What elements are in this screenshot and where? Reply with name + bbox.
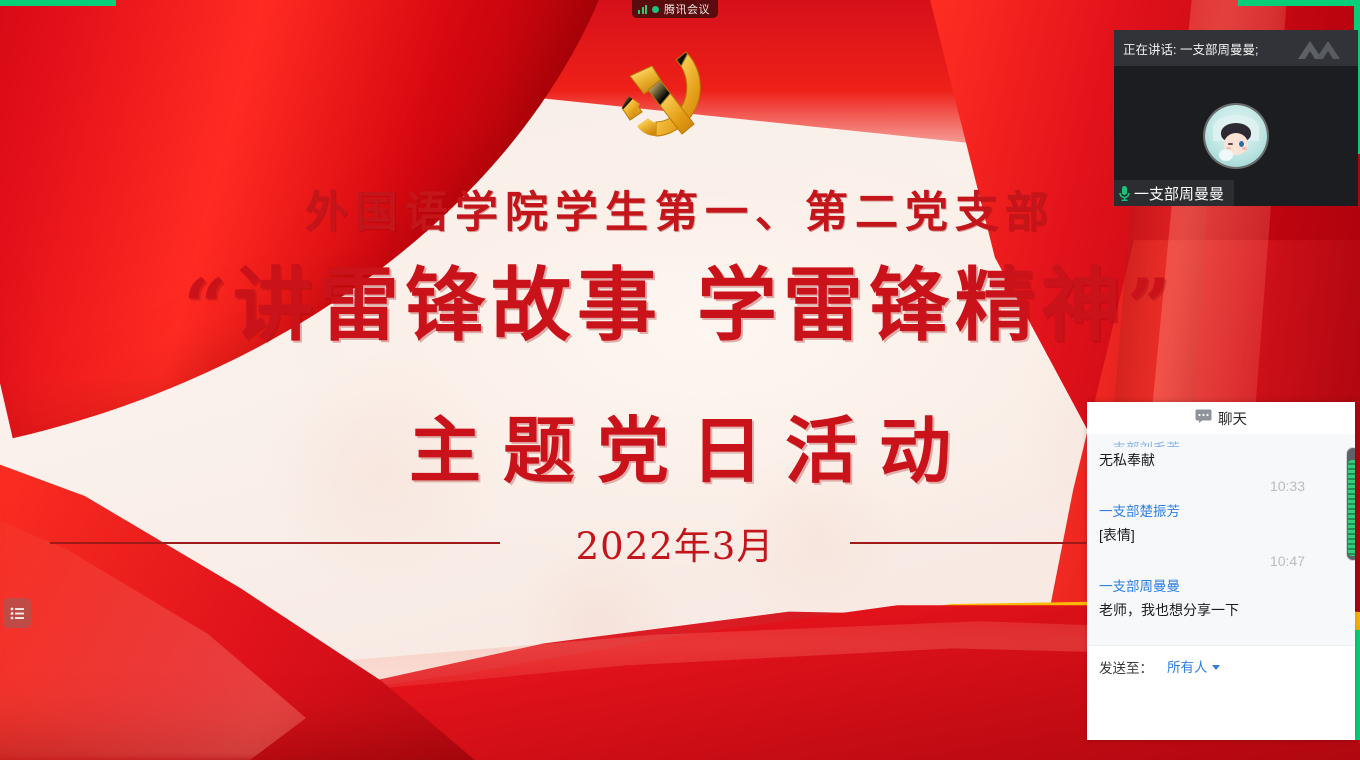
chat-message: 一支部楚振芳 [表情] 10:47 (1099, 501, 1343, 574)
chat-scrollbar[interactable] (1347, 448, 1355, 560)
send-to-row[interactable]: 发送至： 所有人 (1099, 656, 1355, 677)
chat-compose-area[interactable]: 发送至： 所有人 (1087, 645, 1355, 740)
chat-message-text: 无私奉献 (1099, 447, 1343, 473)
chat-bubble-icon (1195, 409, 1212, 428)
screen: 外国语学院学生第一、第二党支部 “讲雷锋故事 学雷锋精神” 主题党日活动 202… (0, 0, 1360, 760)
meeting-app-name: 腾讯会议 (664, 1, 710, 17)
meeting-status-badge[interactable]: 腾讯会议 (632, 0, 718, 18)
video-thumbnail-panel[interactable]: 正在讲话: 一支部周曼曼; (1114, 30, 1358, 206)
slogan-text: 讲雷锋故事 学雷锋精神 (233, 258, 1127, 352)
speaking-label: 正在讲话: 一支部周曼曼; (1123, 39, 1258, 58)
chat-message-list[interactable]: 一支部刘毛芳 无私奉献 10:33 一支部楚振芳 [表情] 10:47 一支部周… (1087, 434, 1355, 645)
cpc-party-emblem-icon (608, 46, 716, 150)
avatar (1205, 105, 1267, 167)
chat-message: 一支部刘毛芳 无私奉献 10:33 (1099, 438, 1343, 499)
chat-message-time: 10:33 (1099, 473, 1343, 499)
close-quote: ” (1127, 262, 1177, 351)
participant-name: 一支部周曼曼 (1134, 183, 1224, 204)
chat-message-text: [表情] (1099, 522, 1343, 548)
chat-message-text: 老师，我也想分享一下 (1099, 597, 1343, 623)
chat-message-sender: 一支部周曼曼 (1099, 576, 1343, 597)
video-panel-header: 正在讲话: 一支部周曼曼; (1114, 30, 1358, 66)
share-border-top-left (0, 0, 116, 6)
slide-slogan: “讲雷锋故事 学雷锋精神” (0, 263, 1360, 347)
open-quote: “ (183, 262, 233, 351)
signal-bars-icon (638, 5, 647, 14)
participant-name-tag: 一支部周曼曼 (1114, 180, 1234, 206)
tencent-meeting-logo-icon (1294, 35, 1352, 61)
chat-panel-header: 聊天 (1087, 402, 1355, 434)
send-to-value: 所有人 (1167, 660, 1208, 675)
chat-message: 一支部周曼曼 老师，我也想分享一下 (1099, 576, 1343, 623)
list-menu-icon[interactable] (3, 598, 31, 628)
chat-panel-title: 聊天 (1218, 408, 1247, 429)
share-border-top-right (1238, 0, 1360, 6)
chevron-down-icon (1212, 665, 1220, 670)
slide-date: 2022年3月 (576, 516, 775, 570)
chat-message-sender: 一支部刘毛芳 (1099, 438, 1343, 447)
dateline-rule-left (50, 542, 500, 544)
chat-message-time: 10:47 (1099, 548, 1343, 574)
send-to-dropdown[interactable]: 所有人 (1167, 656, 1220, 677)
green-dot-icon (652, 6, 659, 13)
chat-panel[interactable]: 聊天 一支部刘毛芳 无私奉献 10:33 一支部楚振芳 [表情] 10:47 一… (1087, 402, 1355, 740)
video-feed[interactable]: 一支部周曼曼 (1114, 66, 1358, 206)
microphone-icon (1118, 185, 1131, 202)
chat-message-sender: 一支部楚振芳 (1099, 501, 1343, 522)
send-to-label: 发送至： (1099, 657, 1153, 677)
